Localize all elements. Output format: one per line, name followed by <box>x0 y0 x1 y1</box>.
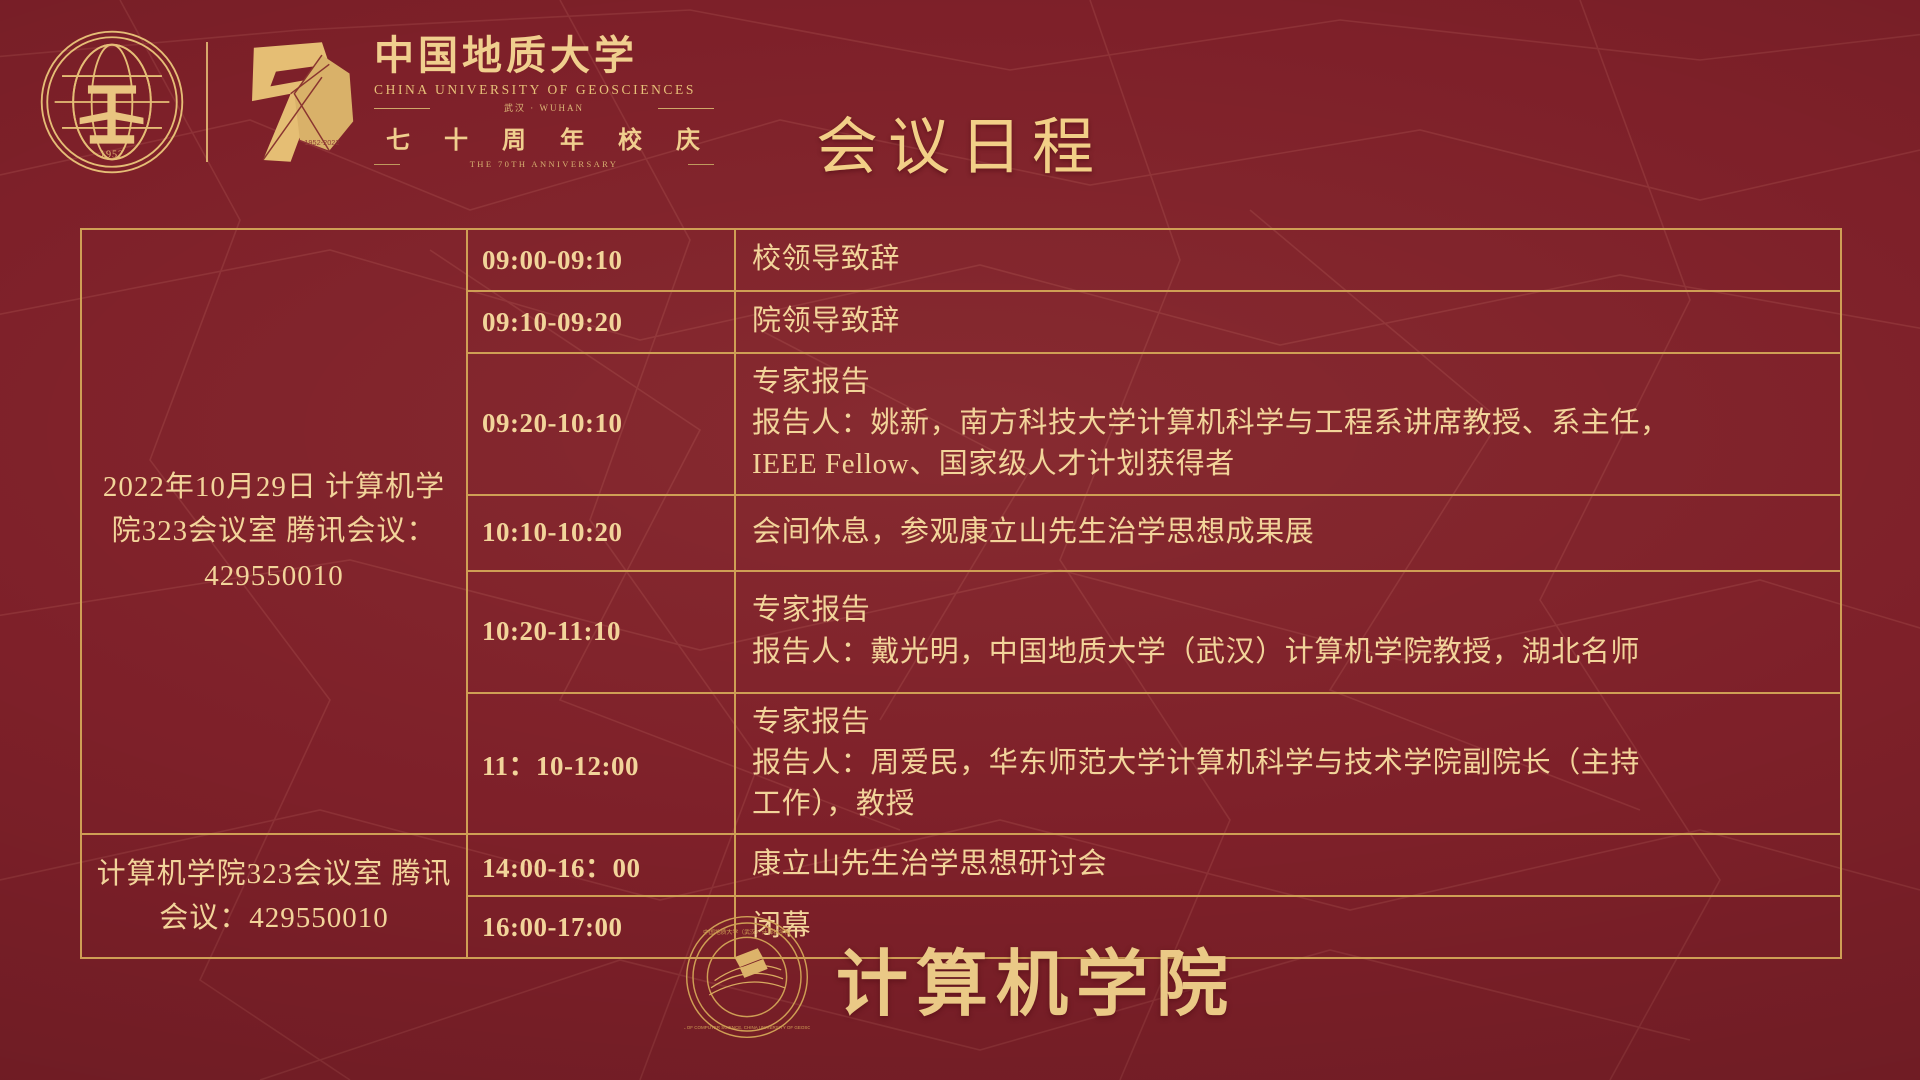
content-line: 报告人：戴光明，中国地质大学（武汉）计算机学院教授，湖北名师 <box>752 632 1826 673</box>
when-line: 2022年10月29日 <box>103 471 317 503</box>
slide-header: 1952 1952-2022 <box>0 0 1920 220</box>
school-seal-icon: 中国地质大学（武汉）计算机学院 SCHOOL OF COMPUTER SCIEN… <box>684 914 810 1040</box>
university-name-cn: 中国地质大学 <box>374 35 714 77</box>
row-content: 康立山先生治学思想研讨会 <box>735 834 1841 896</box>
content-line: 会间休息，参观康立山先生治学思想成果展 <box>752 512 1826 553</box>
content-line: 校领导致辞 <box>752 239 1826 280</box>
row-time: 09:20-10:10 <box>467 353 735 495</box>
row-time: 09:10-09:20 <box>467 291 735 353</box>
row-time: 10:10-10:20 <box>467 495 735 571</box>
page-title: 会议日程 <box>0 96 1920 186</box>
school-name-label: 计算机学院 <box>836 925 1236 1030</box>
content-line: 康立山先生治学思想研讨会 <box>752 844 1826 885</box>
row-time: 10:20-11:10 <box>467 571 735 693</box>
row-content: 专家报告 报告人：姚新，南方科技大学计算机科学与工程系讲席教授、系主任， IEE… <box>735 353 1841 495</box>
table-row: 2022年10月29日 计算机学院323会议室 腾讯会议：429550010 0… <box>81 229 1841 291</box>
row-time: 09:00-09:10 <box>467 229 735 291</box>
content-line: 院领导致辞 <box>752 301 1826 342</box>
row-time: 11：10-12:00 <box>467 693 735 835</box>
schedule-table-container: 2022年10月29日 计算机学院323会议室 腾讯会议：429550010 0… <box>80 228 1842 959</box>
content-line: 专家报告 <box>752 590 1826 631</box>
row-content: 专家报告 报告人：戴光明，中国地质大学（武汉）计算机学院教授，湖北名师 <box>735 571 1841 693</box>
content-line: 报告人：姚新，南方科技大学计算机科学与工程系讲席教授、系主任， <box>752 403 1826 444</box>
content-line: 报告人：周爱民，华东师范大学计算机科学与技术学院副院长（主持 <box>752 743 1826 784</box>
row-content: 专家报告 报告人：周爱民，华东师范大学计算机科学与技术学院副院长（主持 工作），… <box>735 693 1841 835</box>
when-line: 计算机学院323会议室 <box>97 858 384 890</box>
content-line: 专家报告 <box>752 702 1826 743</box>
row-content: 校领导致辞 <box>735 229 1841 291</box>
row-time: 14:00-16：00 <box>467 834 735 896</box>
content-line: 专家报告 <box>752 362 1826 403</box>
schedule-table: 2022年10月29日 计算机学院323会议室 腾讯会议：429550010 0… <box>80 228 1842 959</box>
slide-footer: 中国地质大学（武汉）计算机学院 SCHOOL OF COMPUTER SCIEN… <box>0 914 1920 1040</box>
slide-canvas: 1952 1952-2022 <box>0 0 1920 1080</box>
row-content: 院领导致辞 <box>735 291 1841 353</box>
content-line: 工作），教授 <box>752 784 1826 825</box>
content-line: IEEE Fellow、国家级人才计划获得者 <box>752 444 1826 485</box>
school-seal-cn-label: 中国地质大学（武汉）计算机学院 <box>703 928 791 936</box>
table-row: 计算机学院323会议室 腾讯会议：429550010 14:00-16：00 康… <box>81 834 1841 896</box>
row-content: 会间休息，参观康立山先生治学思想成果展 <box>735 495 1841 571</box>
school-seal-en-label: SCHOOL OF COMPUTER SCIENCE, CHINA UNIVER… <box>684 1025 810 1030</box>
morning-session-when-cell: 2022年10月29日 计算机学院323会议室 腾讯会议：429550010 <box>81 229 467 834</box>
